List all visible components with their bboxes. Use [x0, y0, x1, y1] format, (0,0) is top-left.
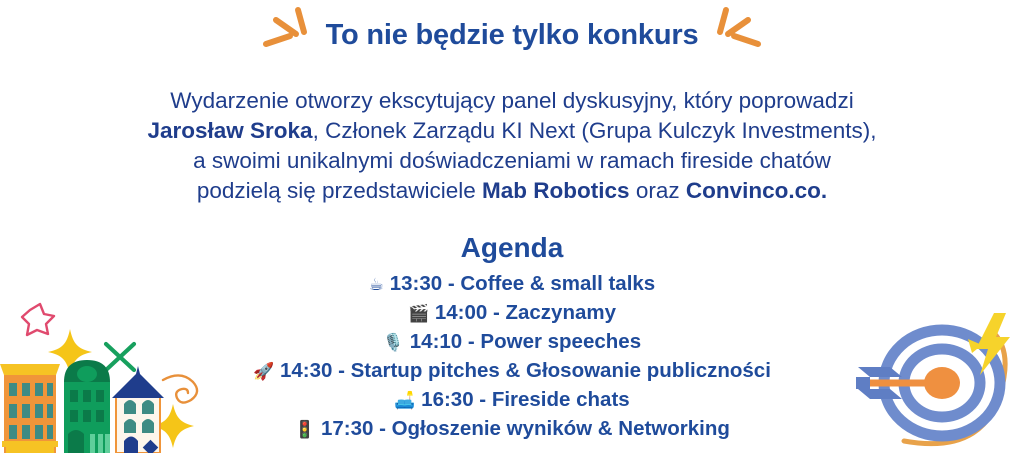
agenda-item-text: 13:30 - Coffee & small talks: [384, 272, 655, 295]
couch-icon: 🛋️: [394, 391, 415, 411]
target-arrow-illustration: [844, 305, 1024, 453]
agenda-item-text: 14:30 - Startup pitches & Głosowanie pub…: [274, 359, 771, 382]
emphasis-text: Jarosław Sroka: [147, 118, 312, 143]
description-line: podzielą się przedstawiciele Mab Robotic…: [0, 176, 1024, 206]
sparkle-lines-left-icon: [260, 6, 322, 58]
description-paragraph: Wydarzenie otworzy ekscytujący panel dys…: [0, 86, 1024, 206]
emphasis-text: Convinco.co.: [686, 178, 827, 203]
agenda-item-text: 14:00 - Zaczynamy: [429, 301, 616, 324]
agenda-item-text: 17:30 - Ogłoszenie wyników & Networking: [315, 417, 730, 440]
rocket-icon: 🚀: [253, 362, 274, 382]
microphone-icon: 🎙️: [383, 333, 404, 353]
description-line: Wydarzenie otworzy ekscytujący panel dys…: [0, 86, 1024, 116]
agenda-heading: Agenda: [0, 232, 1024, 264]
green-cross-icon: [106, 344, 134, 370]
body-text: , Członek Zarządu KI Next (Grupa Kulczyk…: [313, 118, 877, 143]
description-line: Jarosław Sroka, Członek Zarządu KI Next …: [0, 116, 1024, 146]
body-text: a swoimi unikalnymi doświadczeniami w ra…: [193, 148, 831, 173]
title-row: To nie będzie tylko konkurs: [0, 20, 1024, 52]
sparkle-lines-right-icon: [702, 6, 764, 58]
agenda-item-text: 14:10 - Power speeches: [404, 330, 641, 353]
description-line: a swoimi unikalnymi doświadczeniami w ra…: [0, 146, 1024, 176]
clapper-board-icon: 🎬: [408, 304, 429, 324]
building-orange: [0, 364, 60, 453]
page-title: To nie będzie tylko konkurs: [326, 20, 699, 52]
building-green: [64, 360, 110, 453]
emphasis-text: Mab Robotics: [482, 178, 630, 203]
event-agenda-poster: To nie będzie tylko konkurs Wydarzenie o…: [0, 0, 1024, 453]
coffee-cup-icon: ☕: [369, 275, 384, 295]
orange-swirl-icon: [155, 368, 207, 410]
body-text: podzielą się przedstawiciele: [197, 178, 482, 203]
body-text: oraz: [630, 178, 686, 203]
body-text: Wydarzenie otworzy ekscytujący panel dys…: [170, 88, 853, 113]
agenda-item-text: 16:30 - Fireside chats: [415, 388, 629, 411]
traffic-light-icon: 🚦: [294, 420, 315, 440]
page-title-text: To nie będzie tylko konkurs: [326, 19, 699, 51]
pink-star-outline-icon: [22, 304, 54, 335]
